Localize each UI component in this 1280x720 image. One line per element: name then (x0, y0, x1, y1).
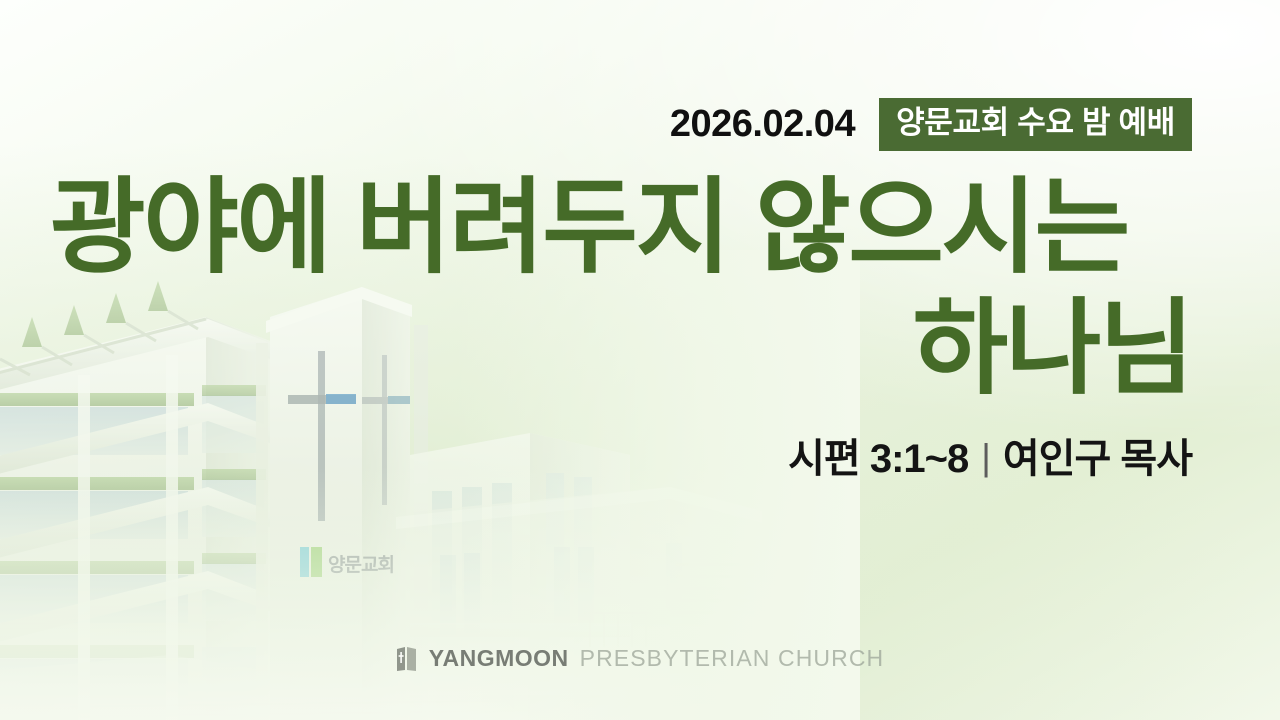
sermon-title-line-1: 광야에 버려두지 않으시는 (42, 168, 1192, 289)
preacher-name: 여인구 목사 (1003, 437, 1192, 481)
svg-text:양문교회: 양문교회 (328, 554, 394, 576)
slide-canvas: 양문교회 (0, 0, 1280, 720)
service-badge: 양문교회 수요 밤 예배 (879, 98, 1192, 151)
footer-wordmark: YANGMOON PRESBYTERIAN CHURCH (0, 645, 1280, 672)
subtitle-separator: | (981, 438, 990, 479)
sermon-title: 광야에 버려두지 않으시는 하나님 (42, 168, 1192, 409)
sanctuary-wing (410, 433, 632, 720)
sermon-title-line-2: 하나님 (42, 289, 1192, 410)
wordmark-primary: YANGMOON (429, 645, 569, 672)
header-row: 2026.02.04 양문교회 수요 밤 예배 (670, 98, 1192, 151)
service-date: 2026.02.04 (670, 105, 855, 143)
open-bible-cross-icon (396, 646, 418, 672)
sermon-subtitle: 시편 3:1~8 | 여인구 목사 (788, 437, 1192, 481)
wordmark-secondary: PRESBYTERIAN CHURCH (580, 645, 885, 672)
scripture-reference: 시편 3:1~8 (788, 437, 968, 481)
church-sign: 양문교회 (300, 547, 394, 577)
